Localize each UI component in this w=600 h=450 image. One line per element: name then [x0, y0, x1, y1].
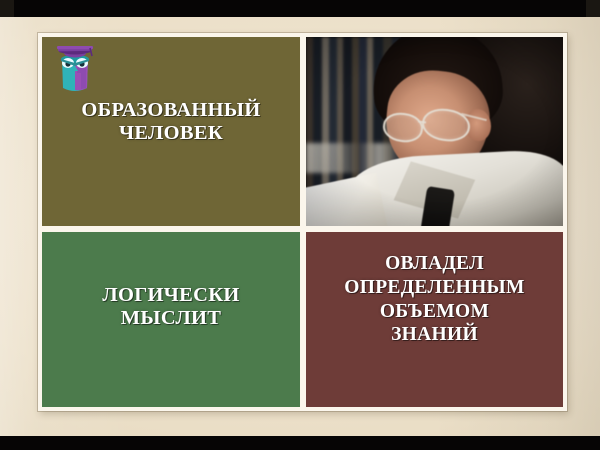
boy-reading-photo	[306, 37, 563, 226]
letterbox-top	[0, 0, 600, 17]
panel-photo[interactable]	[306, 37, 563, 226]
video-screen: ОБРАЗОВАННЫЙ ЧЕЛОВЕК	[0, 0, 600, 450]
panel-mastered-knowledge-label: ОВЛАДЕЛ ОПРЕДЕЛЕННЫМ ОБЪЕМОМ ЗНАНИЙ	[306, 252, 563, 347]
panel-educated-person-label: ОБРАЗОВАННЫЙ ЧЕЛОВЕК	[42, 99, 300, 146]
owl-graduate-logo-icon	[53, 42, 97, 94]
slide-background: ОБРАЗОВАННЫЙ ЧЕЛОВЕК	[0, 15, 600, 438]
panel-educated-person[interactable]: ОБРАЗОВАННЫЙ ЧЕЛОВЕК	[42, 37, 300, 226]
panel-thinks-logically[interactable]: ЛОГИЧЕСКИ МЫСЛИТ	[42, 232, 300, 407]
boy-tie	[421, 186, 455, 226]
panel-thinks-logically-label: ЛОГИЧЕСКИ МЫСЛИТ	[42, 284, 300, 331]
panel-mastered-knowledge[interactable]: ОВЛАДЕЛ ОПРЕДЕЛЕННЫМ ОБЪЕМОМ ЗНАНИЙ	[306, 232, 563, 407]
letterbox-top-left-fade	[0, 0, 14, 17]
letterbox-top-right-fade	[586, 0, 600, 17]
quadrant-frame: ОБРАЗОВАННЫЙ ЧЕЛОВЕК	[38, 33, 567, 411]
vertical-divider	[300, 33, 306, 411]
letterbox-bottom	[0, 436, 600, 450]
horizontal-divider	[38, 226, 567, 232]
